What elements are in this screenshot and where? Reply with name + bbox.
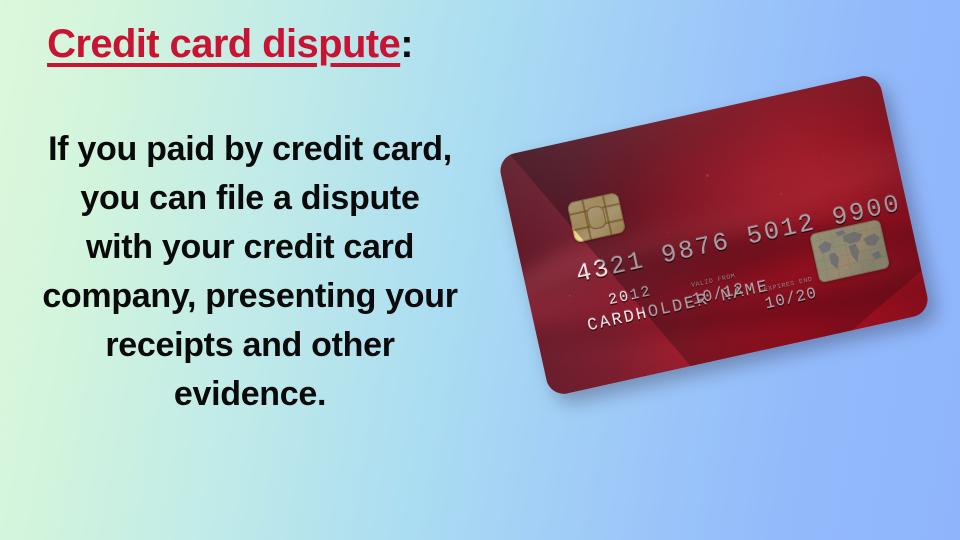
body-line: you can file a dispute [18,174,482,223]
body-line: company, presenting your [18,272,482,321]
page-title-colon: : [400,22,413,66]
body-line: with your credit card [18,223,482,272]
body-line: If you paid by credit card, [18,125,482,174]
credit-card: 4321 9876 5012 9900 2012 CARDHOLDER NAME… [497,73,931,398]
body-line: evidence. [18,370,482,419]
text-column: Credit card dispute: If you paid by cred… [0,0,500,540]
credit-card-illustration: 4321 9876 5012 9900 2012 CARDHOLDER NAME… [505,80,960,420]
slide-canvas: Credit card dispute: If you paid by cred… [0,0,960,540]
page-title: Credit card dispute: [0,22,500,67]
page-title-text: Credit card dispute [47,22,400,66]
body-paragraph: If you paid by credit card, you can file… [0,125,500,419]
body-line: receipts and other [18,321,482,370]
